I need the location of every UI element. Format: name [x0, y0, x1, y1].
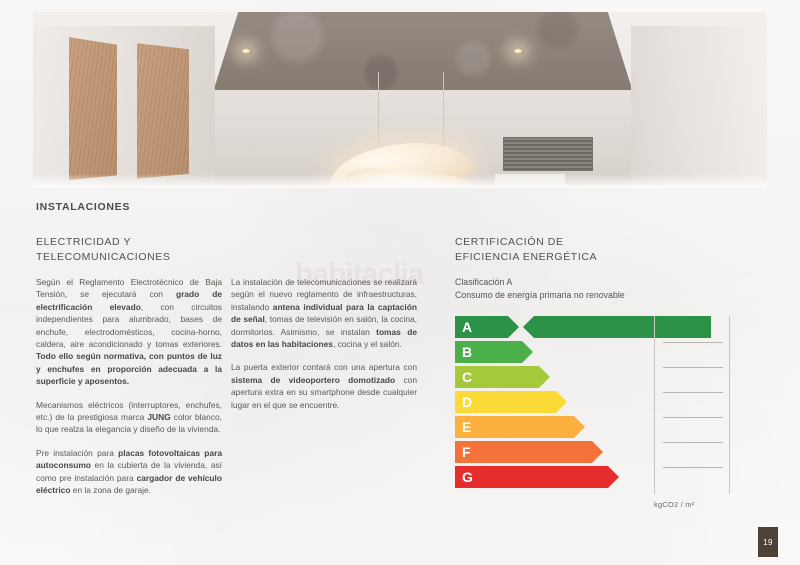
energy-rating-row: A: [455, 316, 645, 338]
right-heading-line-1: CERTIFICACIÓN DE: [455, 235, 597, 250]
energy-rating-row: F: [455, 441, 645, 463]
energy-rating-row: D: [455, 391, 645, 413]
left-heading-line-2: TELECOMUNICACIONES: [36, 250, 170, 265]
paragraph: La instalación de telecomunicaciones se …: [231, 276, 417, 350]
classification-subtitle: Consumo de energía primaria no renovable: [455, 290, 625, 300]
scale-tick: [663, 442, 723, 443]
energy-bar-d: D: [455, 391, 567, 413]
photo-bottom-fade: [33, 174, 767, 188]
energy-bar-c: C: [455, 366, 550, 388]
paragraph: La puerta exterior contará con una apert…: [231, 361, 417, 411]
scale-tick: [663, 342, 723, 343]
air-vent-grille-icon: [503, 137, 593, 171]
paragraph: Mecanismos eléctricos (interruptores, en…: [36, 399, 222, 436]
energy-rating-row: B: [455, 341, 645, 363]
right-wall: [631, 26, 767, 188]
energy-bar-f: F: [455, 441, 603, 463]
energy-rating-row: G: [455, 466, 645, 488]
hero-interior-photo: [33, 12, 767, 188]
classification-label: Clasificación A: [455, 277, 512, 287]
wood-panel: [69, 28, 117, 180]
energy-bar-a: A: [455, 316, 519, 338]
right-heading-line-2: EFICIENCIA ENERGÉTICA: [455, 250, 597, 265]
body-column-right: La instalación de telecomunicaciones se …: [231, 276, 417, 422]
page-number-badge: 19: [758, 527, 778, 557]
right-column-heading: CERTIFICACIÓN DE EFICIENCIA ENERGÉTICA: [455, 235, 597, 265]
energy-rating-chart: ABCDEFG: [455, 316, 645, 491]
page-title: INSTALACIONES: [36, 201, 130, 213]
scale-tick: [663, 467, 723, 468]
energy-bar-g: G: [455, 466, 619, 488]
scale-tick: [663, 367, 723, 368]
energy-bar-e: E: [455, 416, 585, 438]
scale-tick: [663, 392, 723, 393]
scale-selected-letter: A: [655, 316, 729, 334]
lamp-cord: [378, 72, 379, 150]
textured-ceiling-panel: [213, 12, 633, 92]
wood-panel: [137, 28, 189, 180]
recessed-spotlight-icon: [513, 48, 523, 54]
scale-unit-label: kgCO2 / m²: [654, 500, 694, 509]
energy-rating-row: C: [455, 366, 645, 388]
left-heading-line-1: ELECTRICIDAD Y: [36, 235, 170, 250]
left-column-heading: ELECTRICIDAD Y TELECOMUNICACIONES: [36, 235, 170, 265]
scale-tick: [663, 417, 723, 418]
paragraph: Según el Reglamento Electrotécnico de Ba…: [36, 276, 222, 388]
recessed-spotlight-icon: [241, 48, 251, 54]
energy-bar-b: B: [455, 341, 533, 363]
body-column-left: Según el Reglamento Electrotécnico de Ba…: [36, 276, 222, 508]
energy-rating-row: E: [455, 416, 645, 438]
paragraph: Pre instalación para placas fotovoltaica…: [36, 447, 222, 497]
energy-scale-panel: A: [654, 316, 730, 494]
